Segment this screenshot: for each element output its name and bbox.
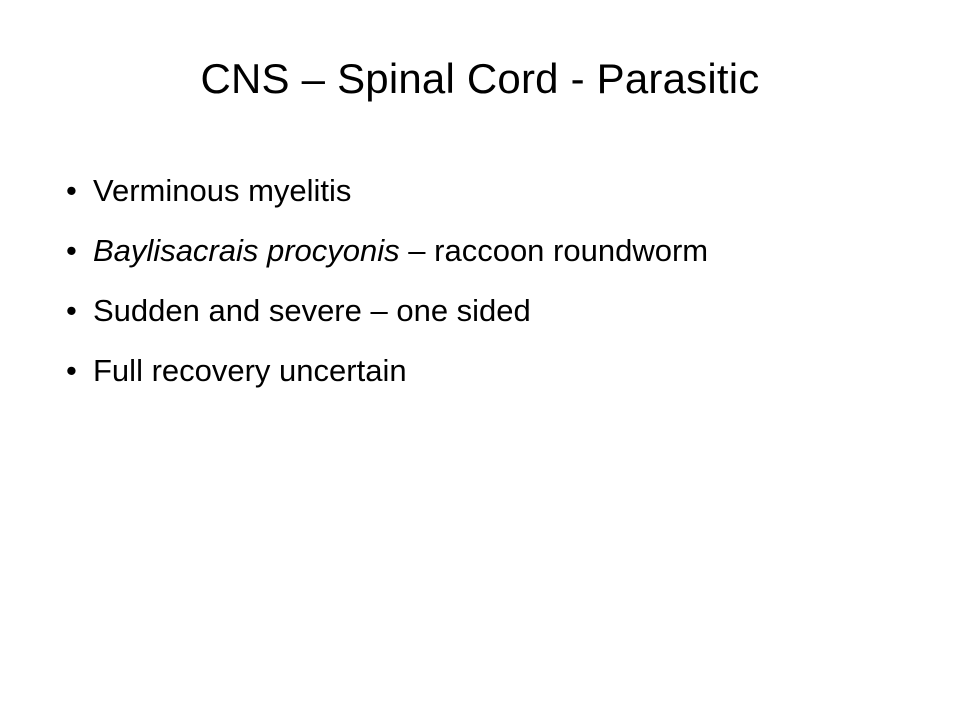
list-item: • Verminous myelitis (60, 168, 900, 228)
bullet-text-1: Verminous myelitis (93, 173, 351, 208)
bullet-text-2: Baylisacrais procyonis – raccoon roundwo… (93, 233, 708, 268)
common-name: – raccoon roundworm (400, 233, 708, 268)
bullet-list: • Verminous myelitis • Baylisacrais proc… (60, 168, 900, 408)
bullet-dot-icon: • (66, 288, 78, 334)
slide-title: CNS – Spinal Cord - Parasitic (60, 54, 900, 104)
bullet-text-4: Full recovery uncertain (93, 353, 407, 388)
bullet-dot-icon: • (66, 348, 78, 394)
bullet-dot-icon: • (66, 168, 78, 214)
list-item: • Full recovery uncertain (60, 348, 900, 408)
list-item: • Sudden and severe – one sided (60, 288, 900, 348)
scientific-name: Baylisacrais procyonis (93, 233, 400, 268)
slide-canvas: CNS – Spinal Cord - Parasitic • Verminou… (0, 0, 960, 720)
bullet-text-3: Sudden and severe – one sided (93, 293, 531, 328)
list-item: • Baylisacrais procyonis – raccoon round… (60, 228, 900, 288)
bullet-dot-icon: • (66, 228, 78, 274)
